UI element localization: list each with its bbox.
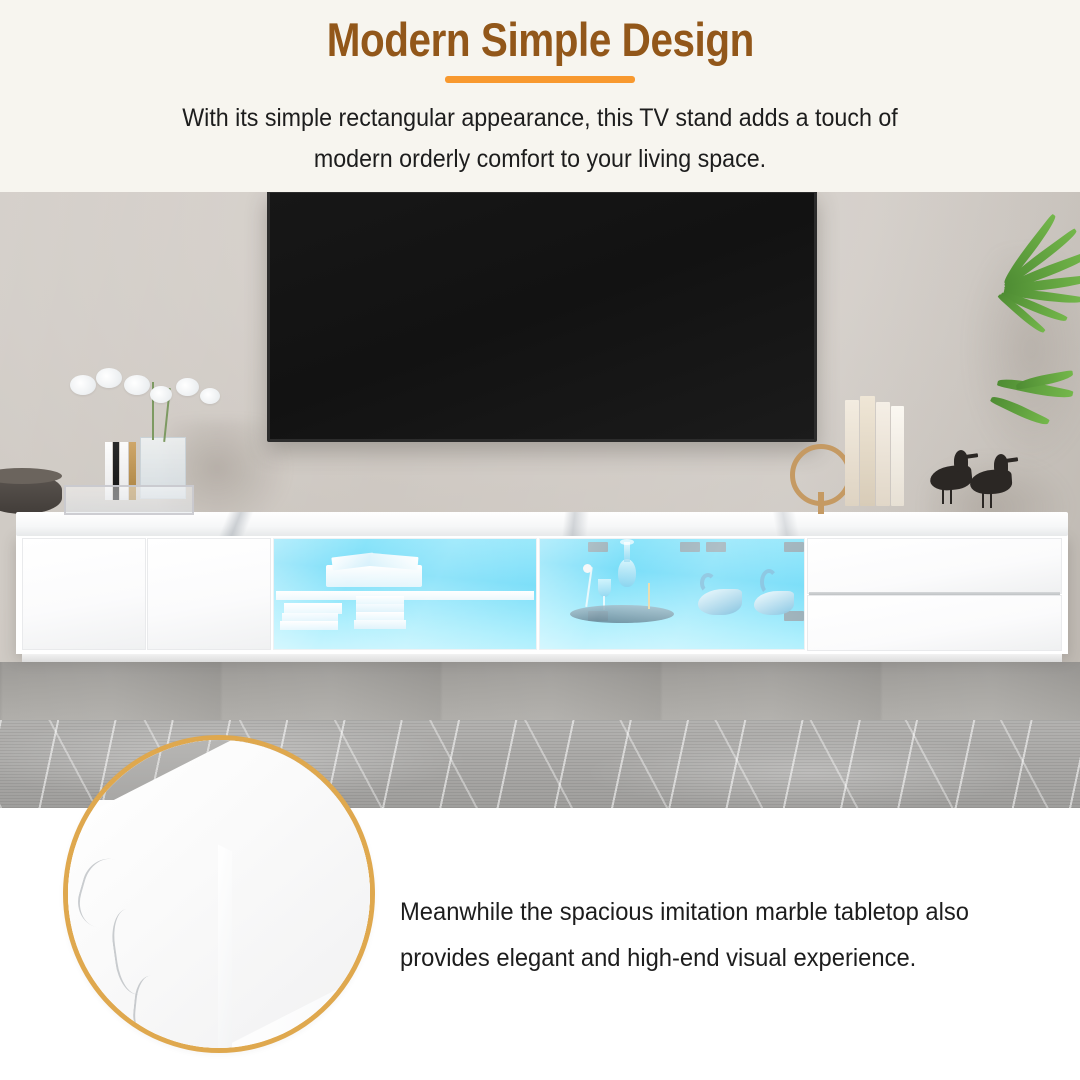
title-underline-rule (445, 76, 635, 83)
cabinet-door-left (22, 538, 146, 650)
decorative-ring-stand (818, 492, 824, 514)
stand-plinth (22, 654, 1062, 662)
orchid-bloom-6 (200, 388, 220, 404)
bottom-description-line-2: provides elegant and high-end visual exp… (400, 936, 1008, 982)
marble-closeup-inset (63, 735, 375, 1053)
page-title: Modern Simple Design (326, 13, 753, 67)
bottom-description: Meanwhile the spacious imitation marble … (400, 890, 1008, 981)
orchid-bloom-4 (150, 386, 172, 403)
header-subtitle: With its simple rectangular appearance, … (140, 98, 940, 179)
wall-mounted-tv (267, 192, 817, 442)
tv-screen (270, 193, 814, 439)
marble-tabletop (16, 512, 1068, 536)
led-glass-compartment-right (539, 538, 805, 650)
inset-corner-highlight (218, 845, 232, 1053)
drawer-lower (807, 595, 1062, 651)
header-subtitle-line-2: modern orderly comfort to your living sp… (140, 139, 940, 180)
orchid-bloom-3 (124, 375, 150, 395)
drawer-upper (807, 538, 1062, 594)
glass-tray (64, 485, 194, 515)
drawer-handle-gap (809, 592, 1060, 595)
orchid-bloom-5 (176, 378, 199, 396)
bird-figurine-right (968, 446, 1020, 510)
glass-reflection (274, 539, 536, 649)
tv-stand (16, 512, 1068, 668)
marble-closeup-art (68, 740, 370, 1048)
header-band: Modern Simple Design With its simple rec… (0, 0, 1080, 192)
header-subtitle-line-1: With its simple rectangular appearance, … (140, 98, 940, 139)
right-upright-books (845, 396, 923, 506)
orchid-bloom-2 (96, 368, 122, 388)
cabinet-door-right (147, 538, 271, 650)
floor-planks (0, 662, 1080, 720)
orchid-bloom-1 (70, 375, 96, 395)
palm-plant (964, 230, 1080, 460)
product-feature-page: Modern Simple Design With its simple rec… (0, 0, 1080, 1080)
bottom-description-line-1: Meanwhile the spacious imitation marble … (400, 890, 1008, 936)
marble-veining (16, 512, 1068, 536)
glass-reflection-2 (540, 539, 804, 649)
product-photo (0, 192, 1080, 808)
led-glass-compartment-left (273, 538, 537, 650)
